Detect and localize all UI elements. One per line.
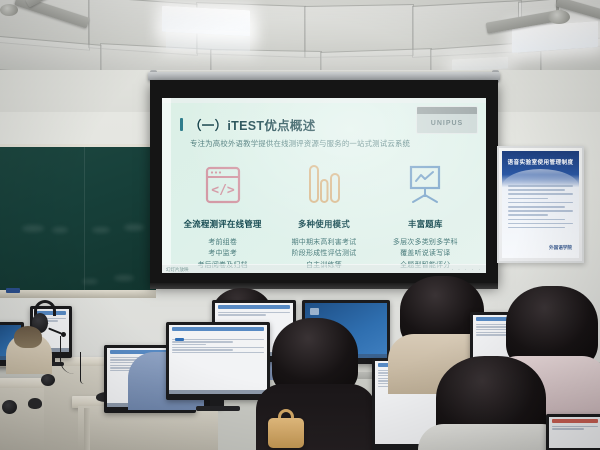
monitor-text-row xyxy=(172,344,206,345)
monitor-text-row xyxy=(172,347,264,348)
ceiling-tile xyxy=(210,49,322,72)
feature-heading: 多种使用模式 xyxy=(275,218,373,230)
monitor-window-header xyxy=(172,327,264,331)
monitor-text-row xyxy=(172,352,264,353)
code-browser-icon: </> xyxy=(174,158,272,212)
chalkboard xyxy=(0,144,156,294)
poster-text-line xyxy=(508,202,573,204)
feature-line: 考前组卷 xyxy=(174,237,272,248)
poster-text-line xyxy=(508,210,573,212)
slide-top-chrome xyxy=(162,98,486,103)
poster-text-line xyxy=(508,214,548,216)
poster-text-line xyxy=(508,189,565,191)
poster-inner: 语音实验室使用管理制度 外国语学院 xyxy=(502,151,579,258)
chalk-smudge xyxy=(82,279,98,284)
headset-earcup[interactable] xyxy=(41,374,55,386)
watermark-text: UNIPUS xyxy=(417,120,477,127)
poster-text-line xyxy=(508,193,573,195)
headset-earcup[interactable] xyxy=(2,400,17,414)
poster-text-line xyxy=(508,227,565,229)
poster-text-line xyxy=(508,219,565,221)
slide-bottom-chrome: 幻灯片放映 · · · · · xyxy=(162,264,486,273)
presentation-slide: UNIPUS （一）iTEST优点概述 专注为高校外语教学提供在线测评资源与服务… xyxy=(162,98,486,273)
poster-text-line xyxy=(508,185,573,187)
feature-heading: 丰富题库 xyxy=(376,218,474,230)
chalk-smudge xyxy=(52,227,68,233)
monitor-text-row xyxy=(172,341,233,342)
monitor-window-header xyxy=(552,419,598,423)
ceiling-fan-hub xyxy=(548,10,570,24)
feature-column-3: 丰富题库 多层次多类别多学科 覆盖听说读写译 全题型智能评分 xyxy=(376,158,474,271)
monitor-window-header xyxy=(218,305,290,309)
slide-status-right: · · · · · xyxy=(452,267,483,272)
wall-poster: 语音实验室使用管理制度 外国语学院 xyxy=(497,146,584,263)
computer-mouse[interactable] xyxy=(28,398,42,409)
feature-line: 多层次多类别多学科 xyxy=(376,237,474,248)
feature-line: 考中监考 xyxy=(174,248,272,259)
title-accent-bar xyxy=(180,118,183,131)
poster-text-line xyxy=(508,223,573,225)
headset-cable xyxy=(60,336,82,374)
feature-column-2: 多种使用模式 期中期末高利害考试 阶段形成性评估测试 自主训练等 xyxy=(275,158,373,271)
projection-surface: UNIPUS （一）iTEST优点概述 专注为高校外语教学提供在线测评资源与服务… xyxy=(162,98,486,273)
monitor-text-row xyxy=(172,339,264,340)
poster-title: 语音实验室使用管理制度 xyxy=(502,158,579,166)
slide-status-left: 幻灯片放映 xyxy=(166,267,189,273)
slide-title-row: （一）iTEST优点概述 xyxy=(180,115,316,134)
slide-feature-columns: </> 全流程测评在线管理 考前组卷 考中监考 考后阅卷及归档 xyxy=(172,158,476,271)
monitor-text-row xyxy=(172,349,233,350)
ceiling-fan-hub xyxy=(0,4,18,16)
monitor-text-row xyxy=(552,428,584,429)
ceiling xyxy=(0,0,600,72)
poster-text-line xyxy=(508,206,565,208)
slide-title: （一）iTEST优点概述 xyxy=(189,115,316,134)
unipus-logo-watermark: UNIPUS xyxy=(416,106,478,134)
monitor-text-row xyxy=(218,312,290,313)
slide-subtitle: 专注为高校外语教学提供在线测评资源与服务的一站式测试云系统 xyxy=(190,138,410,149)
presentation-board-icon xyxy=(376,158,474,212)
chalk-smudge xyxy=(22,225,44,232)
chalk-smudge xyxy=(124,224,144,231)
handbag[interactable] xyxy=(268,418,304,448)
desk-leg xyxy=(84,408,90,450)
monitor-toolbar-button xyxy=(175,338,184,341)
chalk-eraser[interactable] xyxy=(6,288,20,293)
feature-heading: 全流程测评在线管理 xyxy=(174,218,272,230)
svg-text:</>: </> xyxy=(211,183,235,198)
monitor-text-row xyxy=(552,426,598,427)
ceiling-light xyxy=(166,29,250,52)
feature-line: 覆盖听说读写译 xyxy=(376,248,474,259)
monitor-screen xyxy=(549,417,600,448)
poster-body-lines xyxy=(508,185,573,231)
ceiling-tile xyxy=(320,48,432,72)
headset-cable xyxy=(80,352,84,384)
bar-chart-icon xyxy=(275,158,373,212)
poster-text-line xyxy=(508,198,548,200)
poster-signature: 外国语学院 xyxy=(549,245,572,251)
classroom-scene: UNIPUS （一）iTEST优点概述 专注为高校外语教学提供在线测评资源与服务… xyxy=(0,0,600,450)
feature-line: 阶段形成性评估测试 xyxy=(275,248,373,259)
monitor-base xyxy=(196,406,240,411)
feature-column-1: </> 全流程测评在线管理 考前组卷 考中监考 考后阅卷及归档 xyxy=(174,158,272,271)
feature-line: 期中期末高利害考试 xyxy=(275,237,373,248)
projector-screen: UNIPUS （一）iTEST优点概述 专注为高校外语教学提供在线测评资源与服务… xyxy=(150,80,498,285)
chalk-smudge xyxy=(114,275,134,281)
monitor-bottom-right-corner[interactable] xyxy=(546,414,600,450)
person-head-far-left xyxy=(14,326,42,348)
monitor-screen xyxy=(169,325,267,394)
watermark-bar xyxy=(417,107,477,114)
monitor-foreground-center[interactable] xyxy=(166,322,270,400)
chalk-tray xyxy=(0,290,156,298)
chalk-smudge xyxy=(92,227,110,233)
monitor-taskbar xyxy=(169,390,267,394)
monitor-text-row xyxy=(218,314,266,315)
slide-left-strip xyxy=(162,98,171,273)
desktop-icon[interactable] xyxy=(310,308,319,315)
